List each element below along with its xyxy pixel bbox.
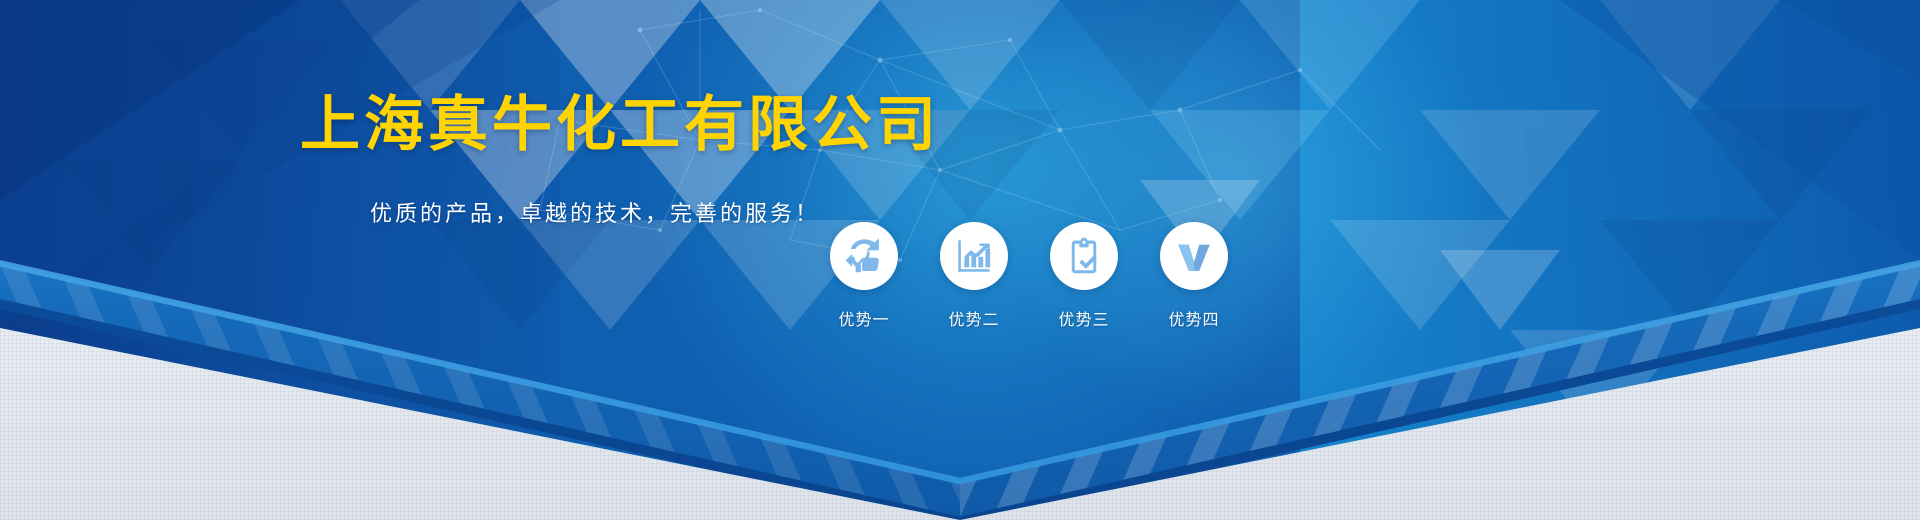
- bar-chart-growth-icon: [953, 235, 995, 277]
- advantage-label-1: 优势一: [838, 306, 889, 330]
- advantage-icon-circle-2: [940, 222, 1008, 290]
- company-title: 上海真牛化工有限公司: [300, 92, 940, 159]
- company-hero-banner: 上海真牛化工有限公司 优质的产品，卓越的技术，完善的服务！: [0, 0, 1920, 520]
- advantage-label-4: 优势四: [1168, 306, 1219, 330]
- advantage-item-1[interactable]: 优势一: [830, 222, 898, 330]
- advantage-icon-circle-3: [1050, 222, 1118, 290]
- advantages-list: 优势一: [830, 222, 1228, 330]
- v-check-icon: [1173, 235, 1215, 277]
- advantage-item-4[interactable]: 优势四: [1160, 222, 1228, 330]
- advantage-label-3: 优势三: [1058, 306, 1109, 330]
- advantage-label-2: 优势二: [948, 306, 999, 330]
- banner-content: 上海真牛化工有限公司 优质的产品，卓越的技术，完善的服务！: [0, 0, 1920, 520]
- advantage-item-3[interactable]: 优势三: [1050, 222, 1118, 330]
- advantage-item-2[interactable]: 优势二: [940, 222, 1008, 330]
- clipboard-check-icon: [1063, 235, 1105, 277]
- company-slogan: 优质的产品，卓越的技术，完善的服务！: [370, 196, 820, 228]
- advantage-icon-circle-4: [1160, 222, 1228, 290]
- advantage-icon-circle-1: [830, 222, 898, 290]
- recycle-thumbsup-icon: [843, 235, 885, 277]
